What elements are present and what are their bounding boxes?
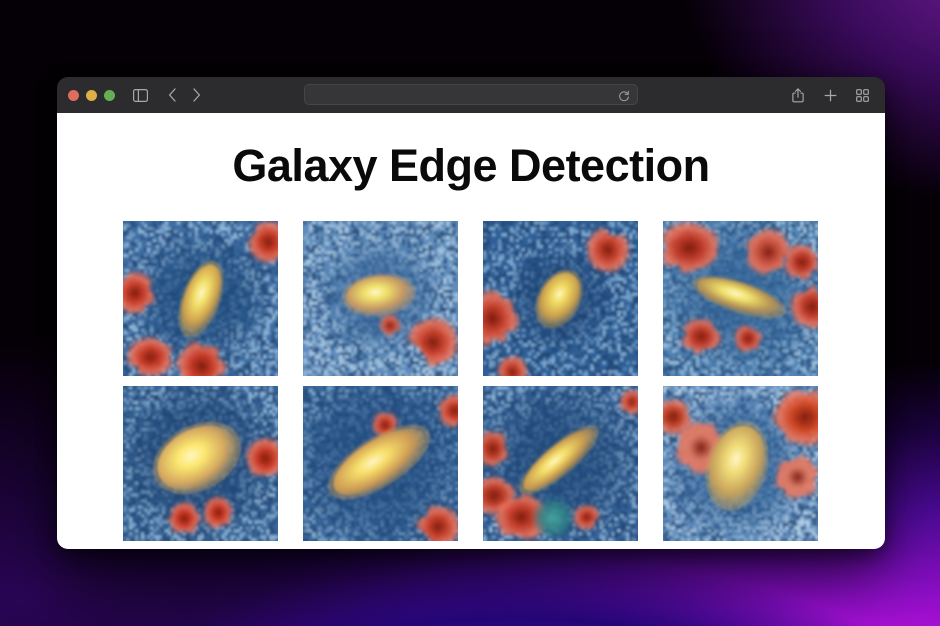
- reload-icon[interactable]: [618, 89, 630, 101]
- chevron-left-icon[interactable]: [161, 84, 183, 106]
- galaxy-tile[interactable]: [303, 386, 458, 541]
- galaxy-tile[interactable]: [303, 221, 458, 376]
- page-content: Galaxy Edge Detection: [57, 113, 885, 549]
- minimize-window-button[interactable]: [86, 90, 97, 101]
- galaxy-tile[interactable]: [663, 221, 818, 376]
- toolbar-right-group: [787, 84, 873, 106]
- galaxy-tile[interactable]: [483, 221, 638, 376]
- close-window-button[interactable]: [68, 90, 79, 101]
- maximize-window-button[interactable]: [104, 90, 115, 101]
- chevron-right-icon[interactable]: [185, 84, 207, 106]
- galaxy-tile[interactable]: [663, 386, 818, 541]
- galaxy-tile[interactable]: [123, 221, 278, 376]
- share-icon[interactable]: [787, 84, 809, 106]
- browser-window: Galaxy Edge Detection: [57, 77, 885, 549]
- galaxy-gallery-grid: [123, 221, 820, 541]
- page-title: Galaxy Edge Detection: [57, 141, 885, 191]
- galaxy-tile[interactable]: [123, 386, 278, 541]
- browser-toolbar: [57, 77, 885, 113]
- address-bar[interactable]: [304, 84, 638, 105]
- tab-overview-icon[interactable]: [851, 84, 873, 106]
- galaxy-tile[interactable]: [483, 386, 638, 541]
- window-controls: [68, 90, 115, 101]
- sidebar-icon[interactable]: [129, 84, 151, 106]
- plus-icon[interactable]: [819, 84, 841, 106]
